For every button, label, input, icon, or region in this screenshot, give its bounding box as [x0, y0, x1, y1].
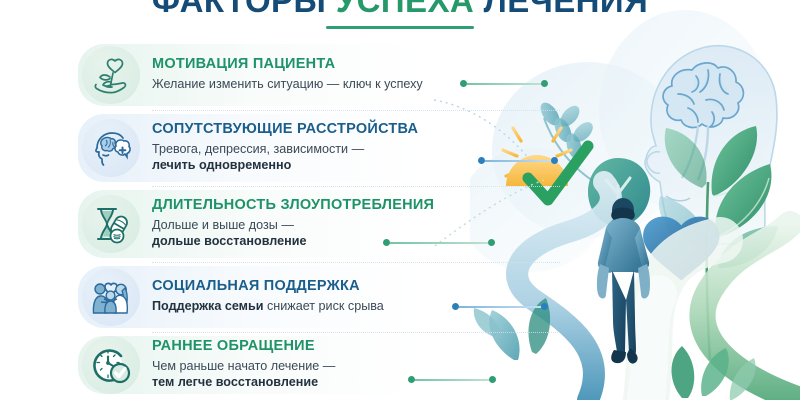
connector-dot-end — [488, 239, 495, 246]
hourglass-pills-icon — [82, 195, 140, 253]
factor-item-early-treatment[interactable]: РАННЕЕ ОБРАЩЕНИЕ Чем раньше начато лечен… — [78, 332, 450, 398]
factor-description-line1: Дольше и выше дозы — — [152, 217, 450, 234]
recovery-path-illustration — [470, 0, 800, 400]
factor-desc-bold: Поддержка семьи — [152, 299, 263, 313]
factor-text-block: СОПУТСТВУЮЩИЕ РАССТРОЙСТВА Тревога, депр… — [152, 122, 450, 174]
factor-title: СОЦИАЛЬНАЯ ПОДДЕРЖКА — [152, 279, 450, 295]
factor-title: МОТИВАЦИЯ ПАЦИЕНТА — [152, 57, 450, 73]
factor-text-block: СОЦИАЛЬНАЯ ПОДДЕРЖКА Поддержка семьи сни… — [152, 279, 450, 315]
connector-segment — [415, 379, 489, 381]
title-underline-divider — [326, 26, 474, 29]
factor-description-line2: тем легче восстановление — [152, 374, 450, 391]
factor-title: СОПУТСТВУЮЩИЕ РАССТРОЙСТВА — [152, 122, 450, 138]
factor-item-motivation[interactable]: МОТИВАЦИЯ ПАЦИЕНТА Желание изменить ситу… — [78, 40, 450, 110]
factor-list: МОТИВАЦИЯ ПАЦИЕНТА Желание изменить ситу… — [78, 40, 450, 398]
factor-title: ДЛИТЕЛЬНОСТЬ ЗЛОУПОТРЕБЛЕНИЯ — [152, 198, 450, 214]
connector-segment — [390, 242, 488, 244]
factor-item-duration-of-abuse[interactable]: ДЛИТЕЛЬНОСТЬ ЗЛОУПОТРЕБЛЕНИЯ Дольше и вы… — [78, 186, 450, 262]
factor-desc-bold: тем легче восстановление — [152, 375, 318, 389]
factor-desc-regular: Желание изменить ситуацию — ключ к успех… — [152, 77, 423, 91]
factor-desc-bold: дольше восстановление — [152, 234, 306, 248]
connector-line-1 — [460, 80, 548, 87]
factor-description: Поддержка семьи снижает риск срыва — [152, 298, 450, 315]
connector-dot-start — [460, 80, 467, 87]
connector-dot-end — [489, 376, 496, 383]
title-part-1: ФАКТОРЫ — [152, 0, 336, 19]
connector-line-4 — [452, 303, 548, 310]
clock-check-icon — [82, 336, 140, 394]
factor-item-social-support[interactable]: СОЦИАЛЬНАЯ ПОДДЕРЖКА Поддержка семьи сни… — [78, 262, 450, 332]
factor-description-line1: Тревога, депрессия, зависимости — — [152, 141, 450, 158]
title-part-3: ЛЕЧЕНИЯ — [484, 0, 648, 19]
title-part-2: УСПЕХА — [336, 0, 484, 19]
factor-desc-bold: лечить одновременно — [152, 158, 291, 172]
head-brain-plus-icon — [82, 119, 140, 177]
connector-dot-end — [551, 157, 558, 164]
connector-segment — [459, 306, 541, 308]
connector-dot-end — [541, 303, 548, 310]
factor-item-comorbid-disorders[interactable]: СОПУТСТВУЮЩИЕ РАССТРОЙСТВА Тревога, депр… — [78, 110, 450, 186]
connector-dot-end — [541, 80, 548, 87]
connector-line-5 — [408, 376, 496, 383]
factor-description-line1: Чем раньше начато лечение — — [152, 358, 450, 375]
connector-segment — [467, 83, 541, 85]
connector-dot-start — [383, 239, 390, 246]
connector-dot-start — [478, 157, 485, 164]
connector-dot-start — [452, 303, 459, 310]
connector-line-3 — [383, 239, 495, 246]
factor-text-block: МОТИВАЦИЯ ПАЦИЕНТА Желание изменить ситу… — [152, 57, 450, 93]
factor-description: Желание изменить ситуацию — ключ к успех… — [152, 76, 450, 93]
connector-segment — [485, 160, 551, 162]
factor-desc-regular: снижает риск срыва — [263, 299, 383, 313]
connector-dot-start — [408, 376, 415, 383]
factor-text-block: РАННЕЕ ОБРАЩЕНИЕ Чем раньше начато лечен… — [152, 339, 450, 391]
connector-line-2 — [478, 157, 558, 164]
page-title: ФАКТОРЫ УСПЕХА ЛЕЧЕНИЯ — [0, 0, 800, 24]
family-heart-icon — [82, 268, 140, 326]
hand-plant-heart-icon — [82, 46, 140, 104]
factor-title: РАННЕЕ ОБРАЩЕНИЕ — [152, 339, 450, 355]
factor-description-line2: лечить одновременно — [152, 157, 450, 174]
